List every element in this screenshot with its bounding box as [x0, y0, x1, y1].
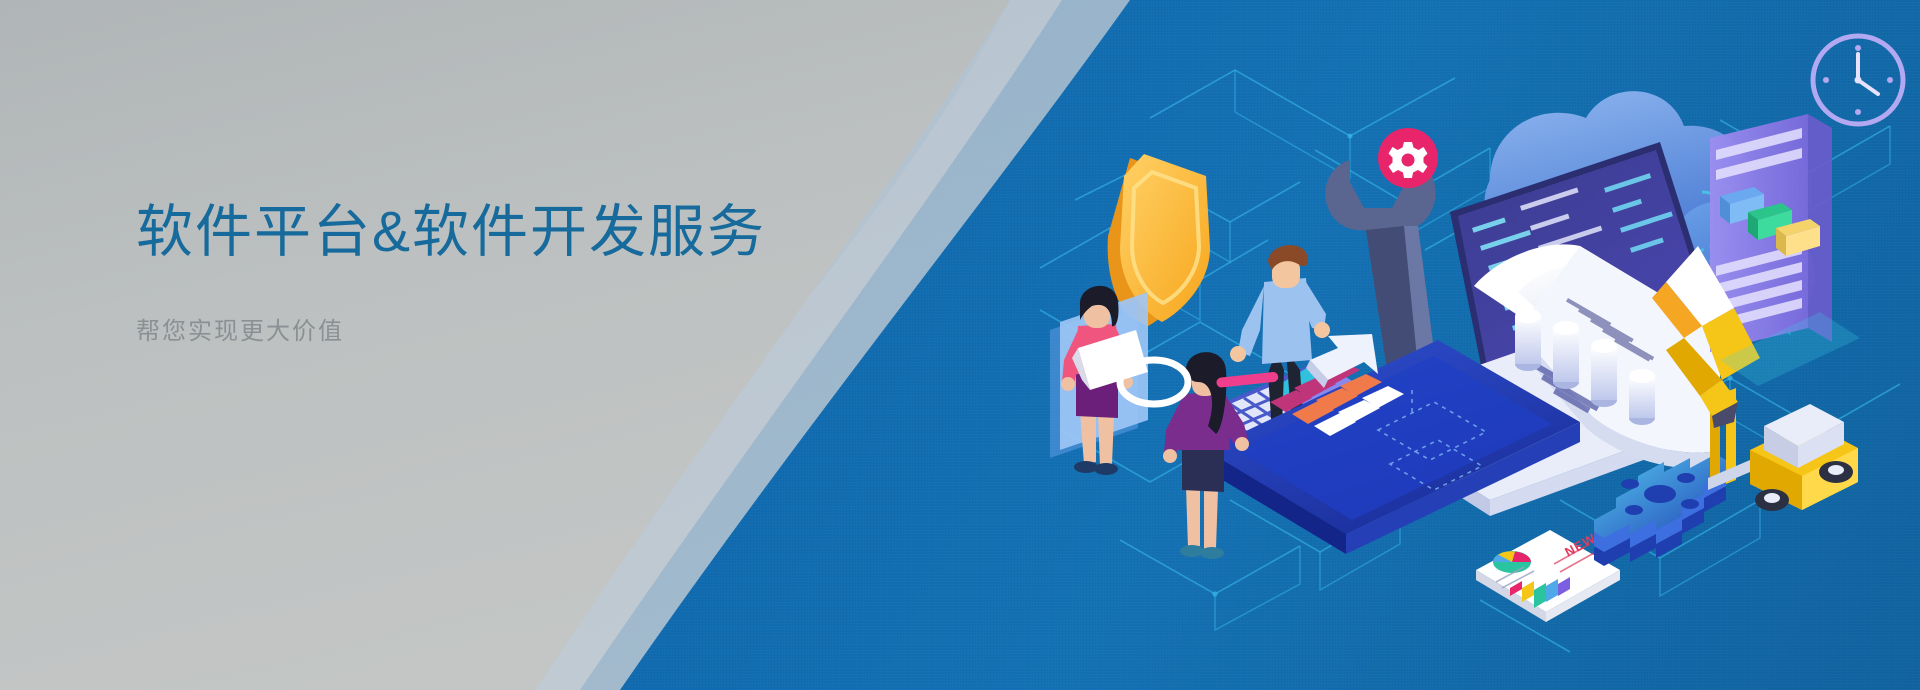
clock-icon — [1813, 36, 1903, 124]
page-subtitle: 帮您实现更大价值 — [136, 311, 896, 346]
page-title: 软件平台&软件开发服务 — [136, 196, 896, 269]
stacked-gears — [1594, 454, 1726, 566]
shield-icon — [1108, 154, 1210, 326]
hero-banner: 软件平台&软件开发服务 帮您实现更大价值 — [0, 0, 1920, 690]
banner-copy: 软件平台&软件开发服务 帮您实现更大价值 — [136, 196, 896, 346]
settings-gear-badge — [1378, 128, 1438, 188]
isometric-illustration: NEWS — [1020, 30, 1920, 680]
